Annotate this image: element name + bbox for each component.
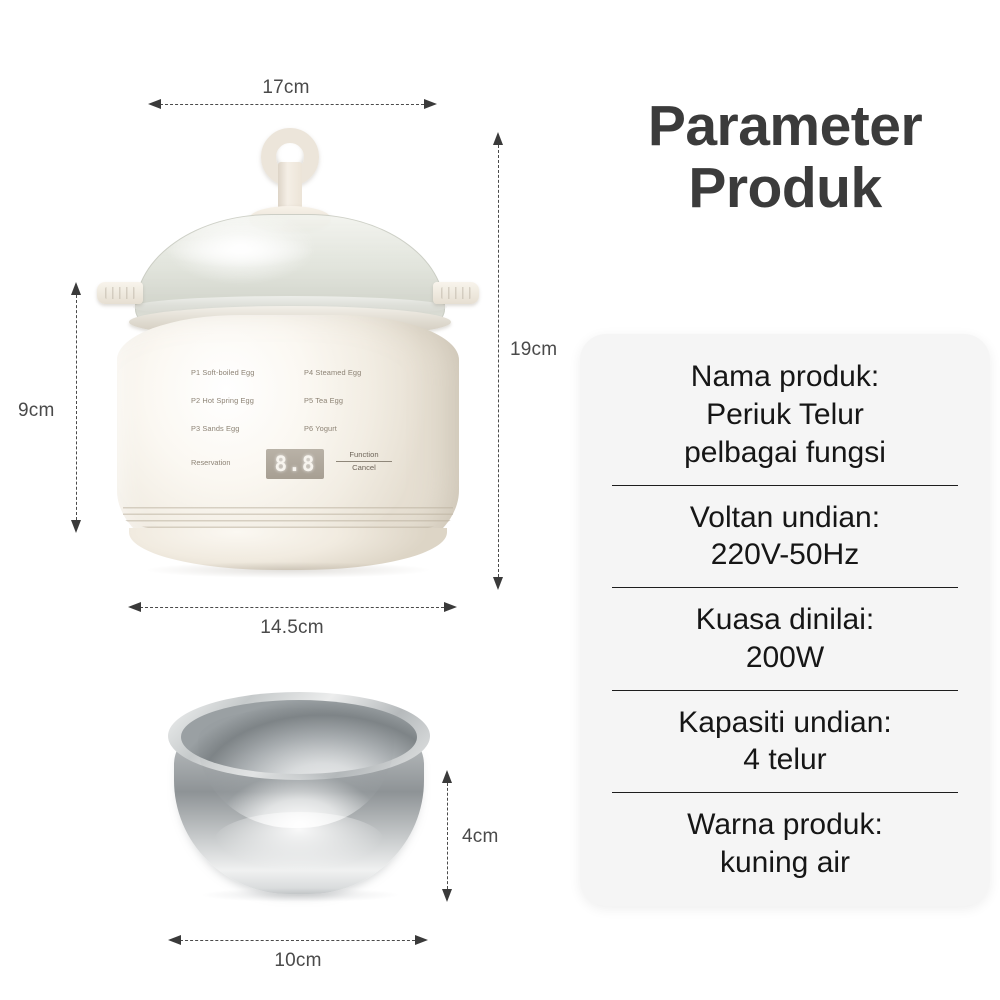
dimension-line-cooker-body-height — [76, 295, 77, 520]
specification-card: Nama produk: Periuk Telur pelbagai fungs… — [580, 334, 990, 906]
cooker-drop-shadow — [147, 562, 429, 578]
page-title: Parameter Produk — [570, 96, 1000, 219]
program-label-p3: P3 Sands Egg — [191, 424, 239, 433]
dimension-label-cooker-body-height: 9cm — [18, 400, 55, 422]
spec-row: Kapasiti undian: 4 telur — [612, 690, 958, 793]
spec-value-cont: pelbagai fungsi — [606, 434, 964, 472]
egg-cooker-image: P1 Soft-boiled Egg P2 Hot Spring Egg P3 … — [103, 110, 473, 600]
glass-lid-highlight — [165, 234, 315, 268]
dimension-line-cooker-base-width — [140, 607, 444, 608]
arrow-down-icon — [71, 520, 81, 533]
cooker-handle-left — [97, 282, 143, 304]
page-title-line1: Parameter — [570, 96, 1000, 158]
specification-column: Parameter Produk Nama produk: Periuk Tel… — [570, 0, 1000, 1000]
arrow-left-icon — [148, 99, 161, 109]
arrow-up-icon — [493, 132, 503, 145]
arrow-up-icon — [71, 282, 81, 295]
spec-row: Kuasa dinilai: 200W — [612, 587, 958, 690]
spec-value: Periuk Telur — [606, 396, 964, 434]
dimension-line-bowl-height — [447, 783, 448, 889]
product-illustration-column: 17cm 19cm 9cm 14.5cm P1 Soft-boiled Egg — [0, 0, 570, 1000]
dimension-line-cooker-width-top — [160, 104, 424, 105]
reservation-label: Reservation — [191, 458, 230, 467]
dimension-label-cooker-width-top: 17cm — [262, 77, 309, 99]
arrow-up-icon — [442, 770, 452, 783]
spec-label: Kuasa dinilai: — [612, 601, 958, 639]
arrow-left-icon — [168, 935, 181, 945]
cooker-control-panel: P1 Soft-boiled Egg P2 Hot Spring Egg P3 … — [191, 368, 391, 488]
spec-row: Nama produk: Periuk Telur pelbagai fungs… — [580, 345, 990, 484]
spec-value: 4 telur — [612, 741, 958, 779]
led-display-value: 8.8 — [266, 449, 324, 479]
spec-label: Kapasiti undian: — [612, 704, 958, 742]
spec-row: Voltan undian: 220V-50Hz — [612, 485, 958, 588]
dimension-label-bowl-height: 4cm — [462, 826, 499, 848]
handle-ribs-icon — [105, 287, 135, 299]
arrow-left-icon — [128, 602, 141, 612]
handle-ribs-icon — [441, 287, 471, 299]
dimension-label-cooker-height-total: 19cm — [510, 339, 557, 361]
program-label-p4: P4 Steamed Egg — [304, 368, 361, 377]
spec-value: 200W — [612, 639, 958, 677]
arrow-right-icon — [424, 99, 437, 109]
arrow-right-icon — [444, 602, 457, 612]
spec-value: 220V-50Hz — [612, 536, 958, 574]
spec-value: kuning air — [612, 844, 958, 882]
bowl-drop-shadow — [202, 888, 398, 902]
spec-row: Warna produk: kuning air — [612, 792, 958, 895]
page-title-line2: Produk — [570, 158, 1000, 220]
cancel-label: Cancel — [336, 462, 392, 473]
dimension-line-bowl-diameter — [180, 940, 415, 941]
arrow-down-icon — [442, 889, 452, 902]
program-label-p1: P1 Soft-boiled Egg — [191, 368, 254, 377]
led-display: 8.8 — [266, 449, 324, 479]
function-label: Function — [336, 450, 392, 462]
spec-label: Voltan undian: — [612, 499, 958, 537]
function-cancel-button: Function Cancel — [336, 450, 392, 472]
arrow-right-icon — [415, 935, 428, 945]
program-label-p5: P5 Tea Egg — [304, 396, 343, 405]
dimension-label-bowl-diameter: 10cm — [274, 950, 321, 972]
stainless-steel-bowl-image — [168, 692, 430, 900]
arrow-down-icon — [493, 577, 503, 590]
spec-label: Nama produk: — [606, 358, 964, 396]
cooker-handle-right — [433, 282, 479, 304]
bowl-highlight — [214, 812, 384, 870]
dimension-line-cooker-height-total — [498, 145, 499, 577]
program-label-p6: P6 Yogurt — [304, 424, 337, 433]
program-label-p2: P2 Hot Spring Egg — [191, 396, 254, 405]
dimension-label-cooker-base-width: 14.5cm — [260, 617, 324, 639]
spec-label: Warna produk: — [612, 806, 958, 844]
